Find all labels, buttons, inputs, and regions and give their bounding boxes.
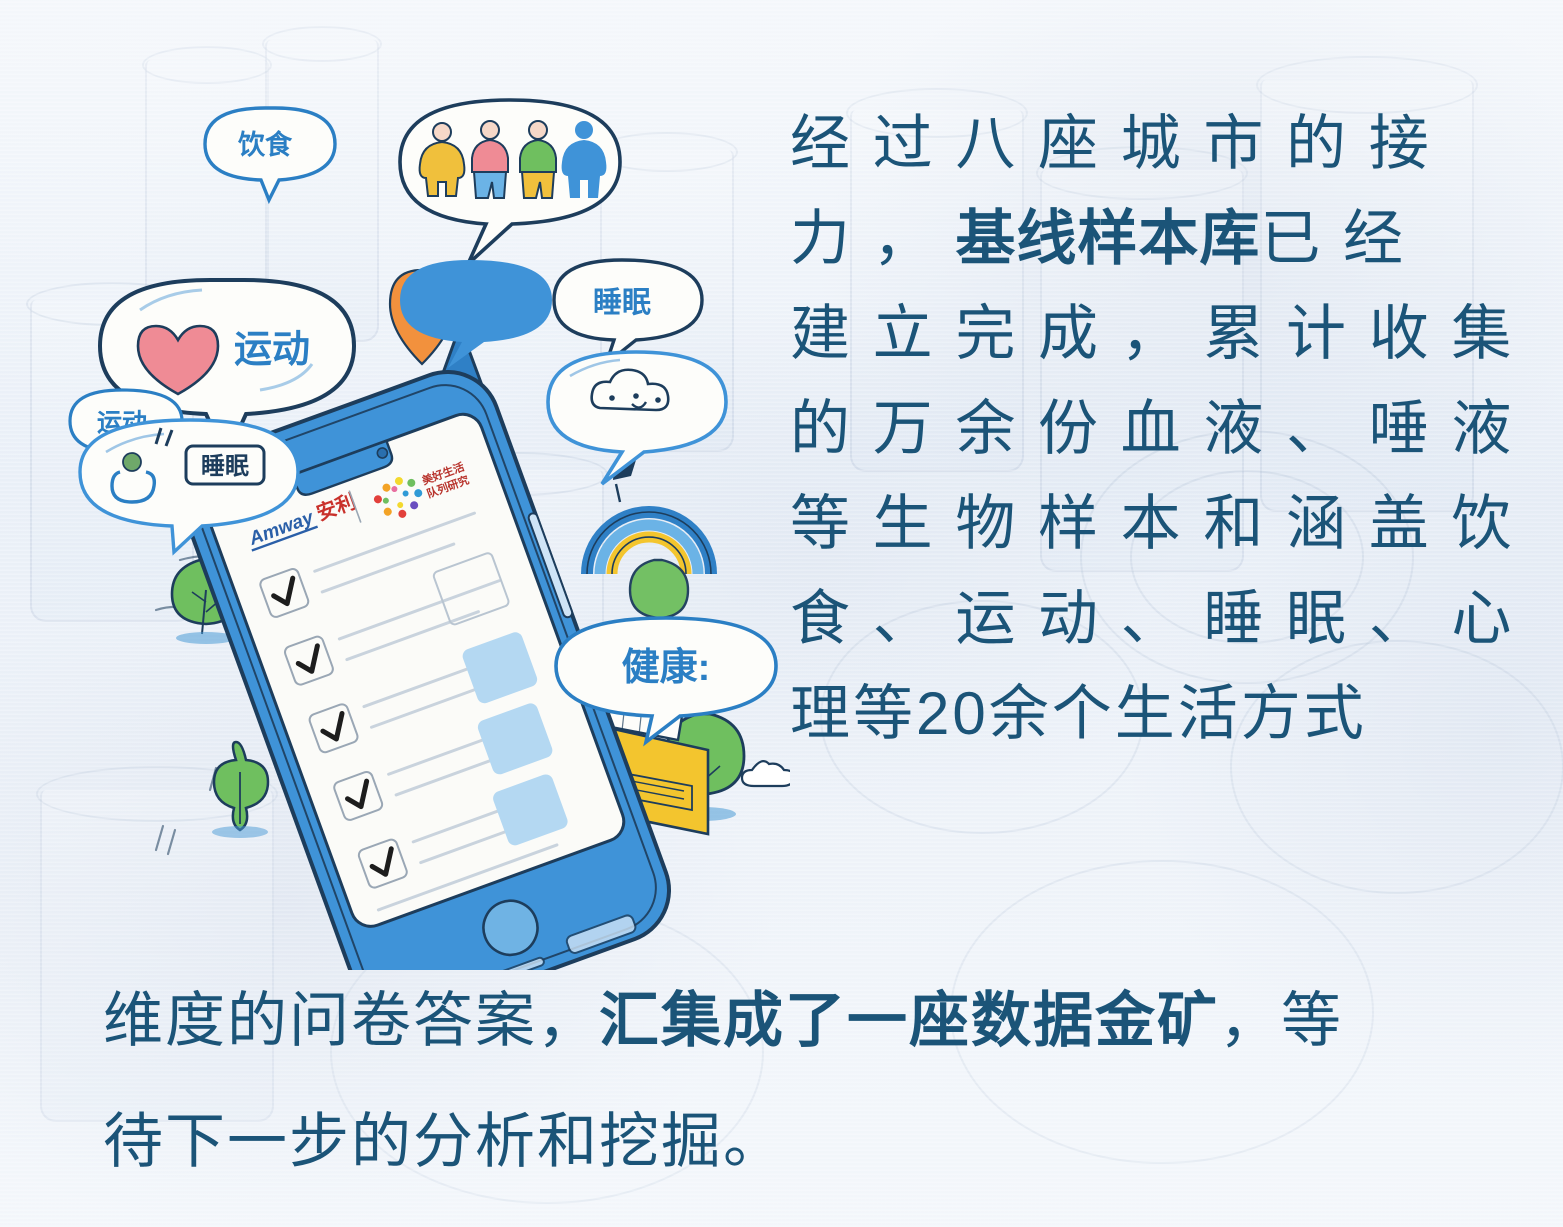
- text-line-6: 食 、 运 动 、 睡 眠 、 心: [790, 571, 1490, 666]
- infographic-canvas: Amway 安利 美好生活 队列研究: [0, 0, 1563, 1227]
- bubble-people: [400, 100, 620, 264]
- text-bottom-line-2: 待下一步的分析和挖掘。: [103, 1106, 785, 1178]
- text-line-2: 力 ， 基线样本库已 经: [790, 191, 1490, 286]
- bubble-cloud-face: [548, 352, 726, 484]
- hero-illustration: Amway 安利 美好生活 队列研究: [60, 90, 790, 970]
- text-line-2-bold: 基线样本库: [955, 205, 1260, 272]
- tree-icon: [212, 742, 268, 838]
- text-bottom-1-bold: 汇集成了一座数据金矿: [599, 987, 1219, 1054]
- text-line-4: 的 万 余 份 血 液 、 唾 液: [790, 381, 1490, 476]
- glass-rim: [262, 26, 382, 62]
- bubble-diet-label: 饮食: [237, 129, 293, 160]
- bubble-sleep-left-label: 睡眠: [201, 453, 249, 480]
- text-line-1: 经 过 八 座 城 市 的 接: [790, 96, 1490, 191]
- bubble-sleep-right: 睡眠: [554, 260, 702, 364]
- text-line-2-suffix: 已 经: [1260, 205, 1406, 272]
- body-text-right-column: 经 过 八 座 城 市 的 接 力 ， 基线样本库已 经 建 立 完 成 ， 累…: [790, 96, 1490, 761]
- bubble-health-label: 健康:: [622, 646, 711, 689]
- text-bottom-1-prefix: 维度的问卷答案，: [103, 987, 599, 1054]
- tree-icon: [630, 560, 688, 618]
- text-line-3: 建 立 完 成 ， 累 计 收 集: [790, 286, 1490, 381]
- bubble-diet: 饮食: [205, 108, 335, 200]
- glass-rim: [142, 46, 272, 84]
- text-bottom-1-suffix: ，等: [1219, 987, 1343, 1054]
- text-line-2-prefix: 力 ，: [790, 205, 936, 272]
- bubble-sleep-right-label: 睡眠: [593, 286, 651, 319]
- text-bottom-line-1: 维度的问卷答案，汇集成了一座数据金矿，等: [103, 985, 1343, 1057]
- bubble-sport-label: 运动: [234, 329, 310, 371]
- text-line-5: 等 生 物 样 本 和 涵 盖 饮: [790, 476, 1490, 571]
- text-line-7: 理等20余个生活方式: [790, 666, 1490, 761]
